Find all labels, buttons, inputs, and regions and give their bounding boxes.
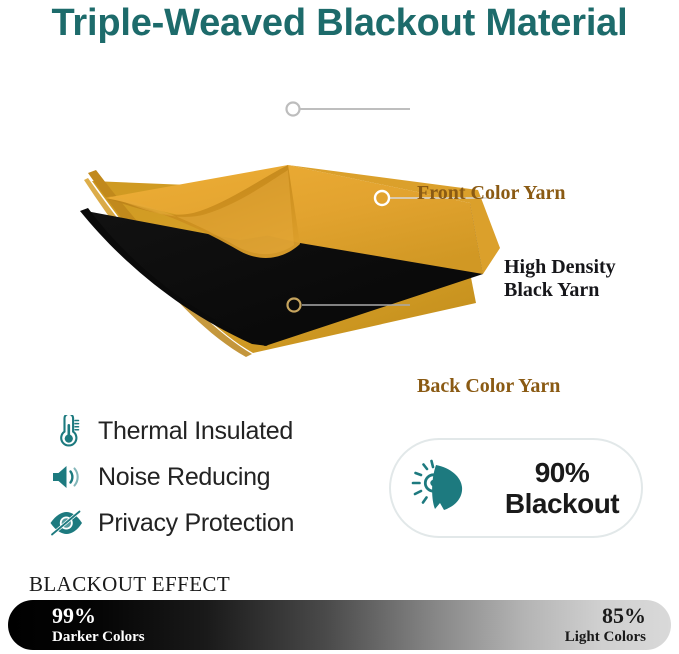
feature-label-privacy: Privacy Protection: [98, 509, 294, 538]
feature-label-noise: Noise Reducing: [98, 463, 270, 492]
blackout-effect-right-group: 85% Light Colors: [565, 603, 646, 646]
feature-thermal-insulated: Thermal Insulated: [44, 408, 374, 454]
feature-privacy-protection: Privacy Protection: [44, 500, 374, 546]
blackout-effect-right-label: Light Colors: [565, 628, 646, 646]
callout-leader-front: [287, 103, 411, 116]
speaker-sound-icon: [44, 458, 88, 496]
blackout-effect-right-percent: 85%: [565, 603, 646, 628]
eye-slash-icon: [44, 504, 88, 542]
blackout-effect-heading: BLACKOUT EFFECT: [29, 572, 230, 597]
callout-label-back: Back Color Yarn: [417, 375, 560, 398]
callout-label-middle: High Density Black Yarn: [504, 256, 654, 302]
badge-word: Blackout: [505, 488, 619, 519]
blackout-effect-left-label: Darker Colors: [52, 628, 145, 646]
fabric-layers-svg: [0, 78, 679, 360]
sun-blocked-icon: [409, 457, 475, 519]
thermometer-icon: [44, 412, 88, 450]
page-title: Triple-Weaved Blackout Material: [0, 2, 679, 45]
feature-list: Thermal Insulated Noise Reducing: [44, 408, 374, 546]
callout-label-front: Front Color Yarn: [417, 182, 566, 205]
callout-label-middle-line1: High Density: [504, 256, 654, 279]
badge-percent: 90%: [535, 457, 590, 488]
fabric-layers-diagram: Front Color Yarn High Density Black Yarn…: [0, 78, 679, 360]
blackout-effect-left-percent: 99%: [52, 603, 145, 628]
badge-text-group: 90% Blackout: [483, 458, 641, 519]
feature-noise-reducing: Noise Reducing: [44, 454, 374, 500]
callout-label-middle-line2: Black Yarn: [504, 279, 654, 302]
feature-label-thermal: Thermal Insulated: [98, 417, 293, 446]
blackout-effect-left-group: 99% Darker Colors: [52, 603, 145, 646]
infographic-page: Triple-Weaved Blackout Material: [0, 0, 679, 654]
blackout-badge: 90% Blackout: [389, 438, 643, 538]
